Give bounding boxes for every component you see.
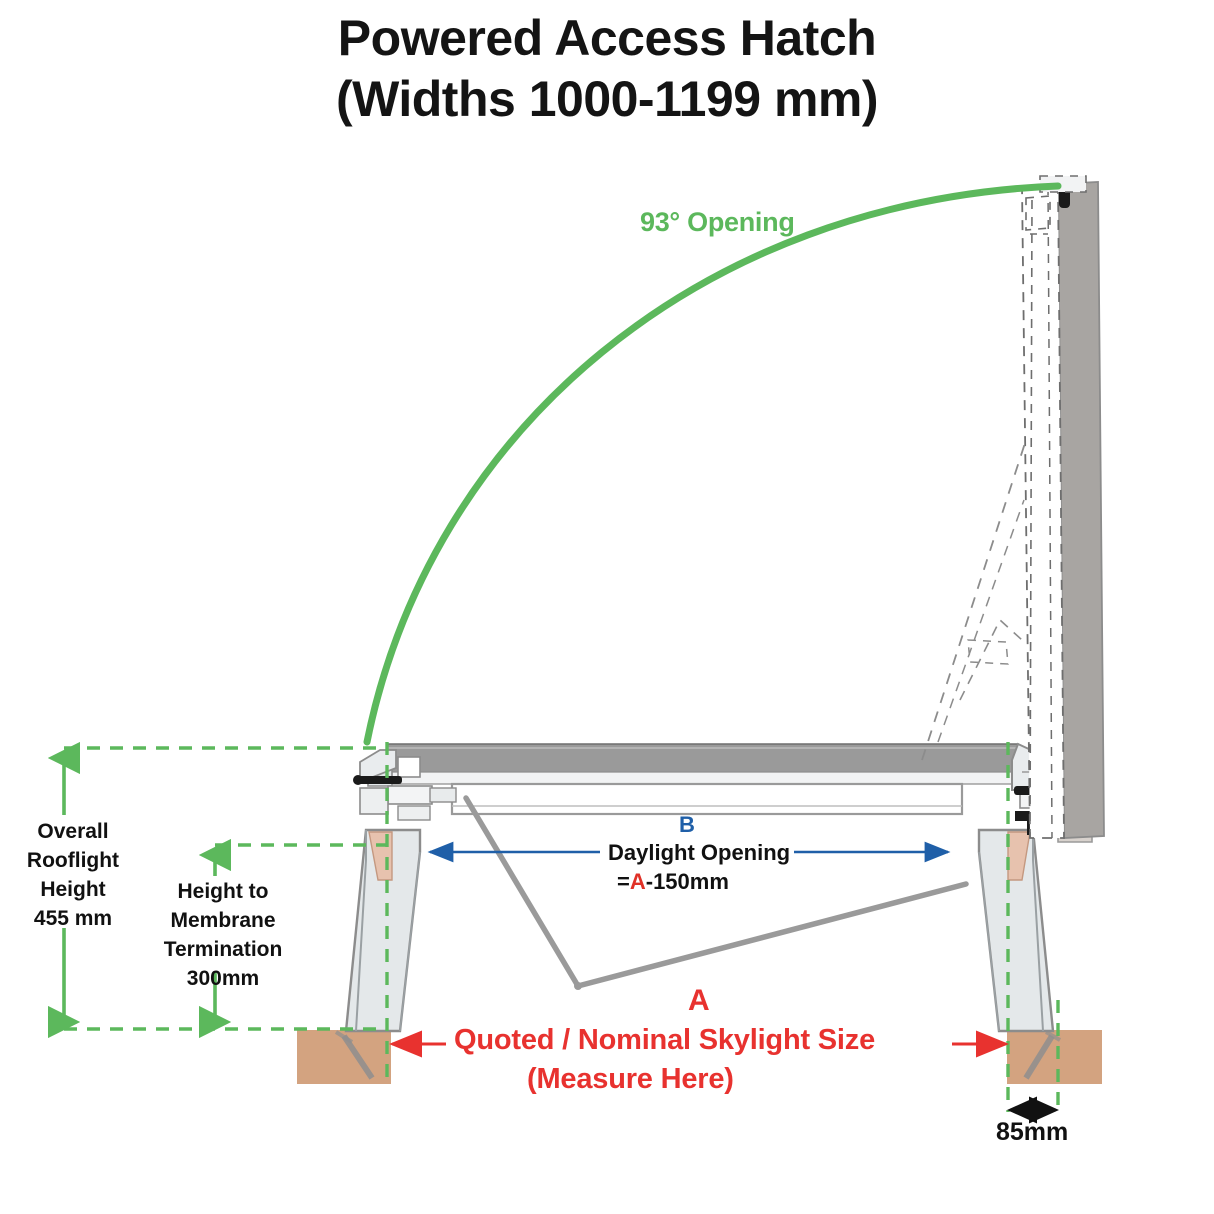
- formula-suffix: -150mm: [646, 869, 729, 894]
- kerb-upstand-left: [346, 830, 420, 1031]
- diagram-page: Powered Access Hatch (Widths 1000-1199 m…: [0, 0, 1214, 1214]
- measure-here-label: (Measure Here): [527, 1063, 734, 1096]
- inner-frame-bar: [452, 784, 962, 814]
- kerb-upstand-right: [979, 830, 1053, 1031]
- opened-lid-panel: [1022, 176, 1104, 838]
- daylight-formula-label: =A-150mm: [617, 869, 729, 895]
- timber-kerb-right: [1007, 1030, 1102, 1084]
- overall-height-label: Overall Rooflight Height 455 mm: [0, 818, 146, 934]
- timber-kerb-left: [297, 1030, 391, 1084]
- daylight-opening-label: Daylight Opening: [604, 840, 794, 866]
- lid-stay-dashed-lines: [922, 440, 1026, 760]
- nominal-size-label: Quoted / Nominal Skylight Size: [448, 1024, 881, 1057]
- kerb-width-label: 85mm: [996, 1118, 1068, 1147]
- opening-angle-label: 93° Opening: [640, 207, 795, 238]
- daylight-marker-label: B: [679, 812, 695, 838]
- formula-prefix: =: [617, 869, 630, 894]
- nominal-marker-label: A: [688, 984, 710, 1018]
- glazing-panel: [378, 744, 1028, 784]
- formula-marker-a: A: [630, 869, 646, 894]
- membrane-height-label: Height to Membrane Termination 300mm: [144, 878, 302, 994]
